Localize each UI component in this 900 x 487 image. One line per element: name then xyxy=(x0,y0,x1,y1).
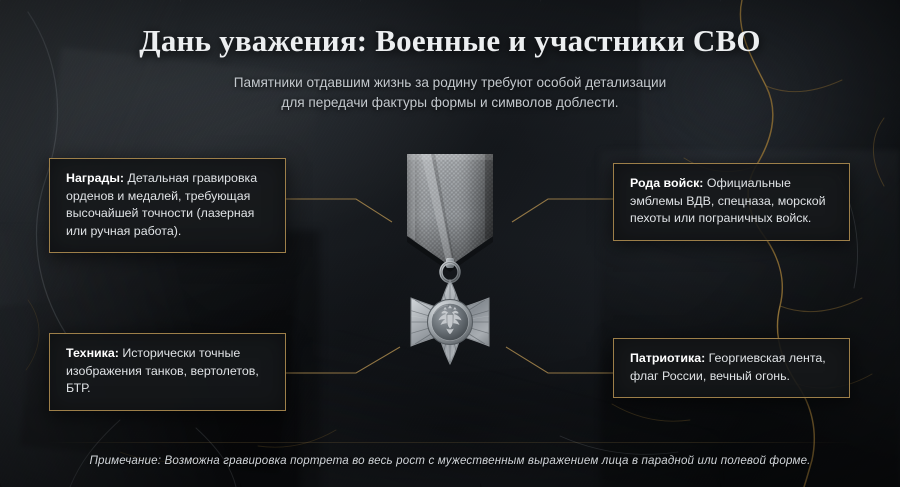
military-cross-medal xyxy=(385,148,515,420)
callout-text: Рода войск: Официальные эмблемы ВДВ, спе… xyxy=(630,175,835,228)
header: Дань уважения: Военные и участники СВО П… xyxy=(0,24,900,114)
callout-label: Техника: xyxy=(66,346,119,360)
footer-divider xyxy=(46,442,854,443)
page-subtitle: Памятники отдавшим жизнь за родину требу… xyxy=(140,73,760,114)
callout-label: Награды: xyxy=(66,171,124,185)
footer: Примечание: Возможна гравировка портрета… xyxy=(0,451,900,469)
callout-awards[interactable]: Награды: Детальная гравировка орденов и … xyxy=(49,158,286,253)
center-medallion xyxy=(428,300,473,345)
infographic-canvas: Дань уважения: Военные и участники СВО П… xyxy=(0,0,900,487)
subtitle-line-2: для передачи фактуры формы и символов до… xyxy=(140,93,760,114)
callout-text: Патриотика: Георгиевская лента, флаг Рос… xyxy=(630,350,835,385)
callout-patriotic[interactable]: Патриотика: Георгиевская лента, флаг Рос… xyxy=(613,338,850,398)
page-title: Дань уважения: Военные и участники СВО xyxy=(0,24,900,59)
footer-note: Примечание: Возможна гравировка портрета… xyxy=(89,454,810,467)
callout-equipment[interactable]: Техника: Исторически точные изображения … xyxy=(49,333,286,411)
callout-label: Патриотика: xyxy=(630,351,705,365)
callout-troop-types[interactable]: Рода войск: Официальные эмблемы ВДВ, спе… xyxy=(613,163,850,241)
callout-text: Награды: Детальная гравировка орденов и … xyxy=(66,170,271,240)
callout-text: Техника: Исторически точные изображения … xyxy=(66,345,271,398)
pentagon-ribbon xyxy=(407,154,493,272)
subtitle-line-1: Памятники отдавшим жизнь за родину требу… xyxy=(140,73,760,94)
callout-label: Рода войск: xyxy=(630,176,703,190)
